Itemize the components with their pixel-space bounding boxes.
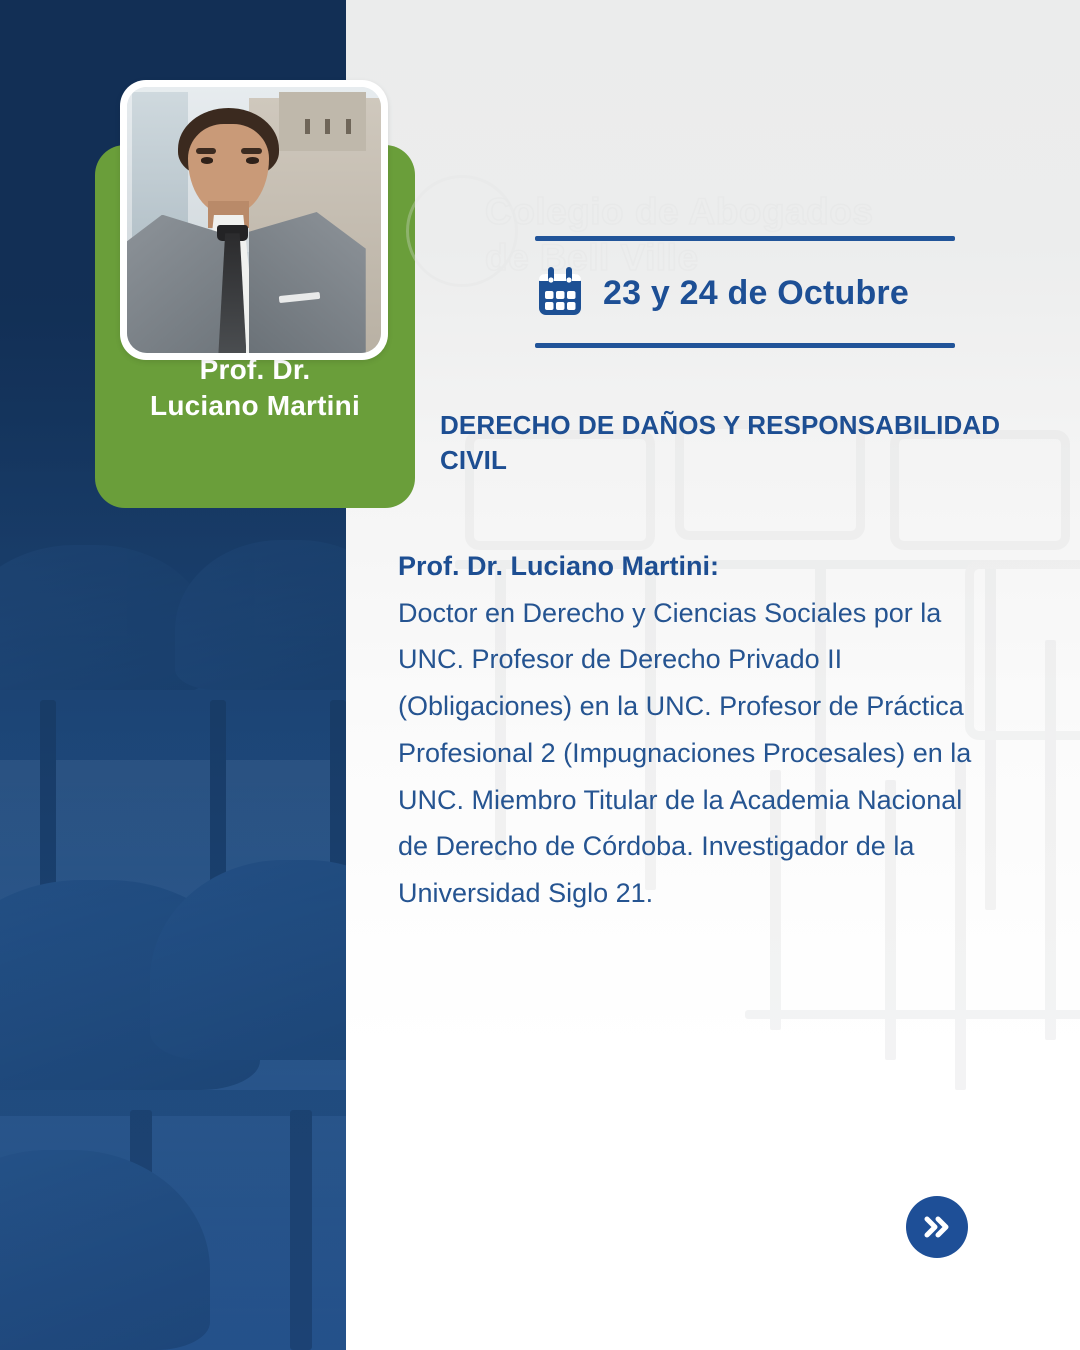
poster-canvas: Prof. Dr. Luciano Martini	[0, 0, 1080, 1350]
speaker-photo-frame	[120, 80, 388, 360]
course-title: DERECHO DE DAÑOS Y RESPONSABILIDAD CIVIL	[440, 408, 1055, 479]
speaker-bio-heading: Prof. Dr. Luciano Martini:	[398, 543, 983, 590]
speaker-bio-body: Doctor en Derecho y Ciencias Sociales po…	[398, 598, 971, 908]
date-row: 23 y 24 de Octubre	[535, 258, 965, 328]
calendar-icon	[535, 267, 585, 319]
date-divider-top	[535, 236, 955, 241]
double-chevron-right-icon	[920, 1210, 954, 1244]
next-slide-button[interactable]	[906, 1196, 968, 1258]
speaker-name: Prof. Dr. Luciano Martini	[95, 352, 415, 508]
date-divider-bottom	[535, 343, 955, 348]
event-date: 23 y 24 de Octubre	[603, 274, 909, 313]
speaker-bio: Prof. Dr. Luciano Martini:Doctor en Dere…	[398, 543, 983, 917]
speaker-photo	[127, 87, 381, 353]
speaker-name-line2: Luciano Martini	[113, 388, 397, 424]
